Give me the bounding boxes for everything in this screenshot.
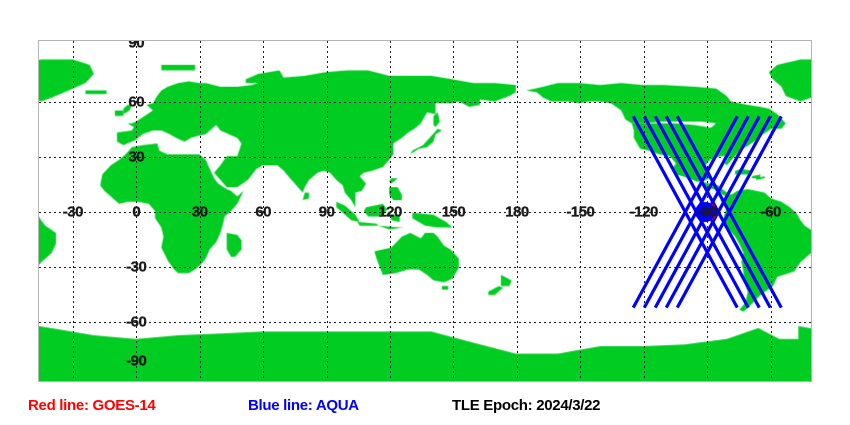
map-gridlines [39,41,812,382]
lon-tick-label: 60 [255,205,271,220]
lon-tick-label: 30 [192,205,208,220]
lat-tick-label: 0 [132,205,140,220]
satellite-ground-track-map: -300306090120150180-150-120-90-609060300… [0,0,850,425]
lon-tick-label: -60 [761,205,781,220]
lat-tick-label: -90 [126,354,146,369]
lat-tick-label: -60 [126,315,146,330]
lon-tick-label: 120 [378,205,402,220]
lon-tick-label: -150 [566,205,594,220]
legend-item-goes14: Red line: GOES-14 [28,398,155,413]
lon-tick-label: -90 [697,205,717,220]
lat-tick-label: 60 [128,94,144,109]
legend-item-aqua: Blue line: AQUA [248,398,359,413]
lat-tick-label: -30 [126,260,146,275]
lon-tick-label: -120 [630,205,658,220]
lon-tick-label: 180 [505,205,529,220]
lon-tick-label: 150 [442,205,466,220]
legend-bar: Red line: GOES-14 Blue line: AQUA TLE Ep… [0,392,850,425]
lat-tick-label: 90 [128,40,144,51]
lon-tick-label: -30 [63,205,83,220]
lon-tick-label: 90 [319,205,335,220]
map-plot-frame: -300306090120150180-150-120-90-609060300… [38,40,812,382]
lat-tick-label: 30 [128,149,144,164]
legend-item-tle-epoch: TLE Epoch: 2024/3/22 [452,398,600,413]
